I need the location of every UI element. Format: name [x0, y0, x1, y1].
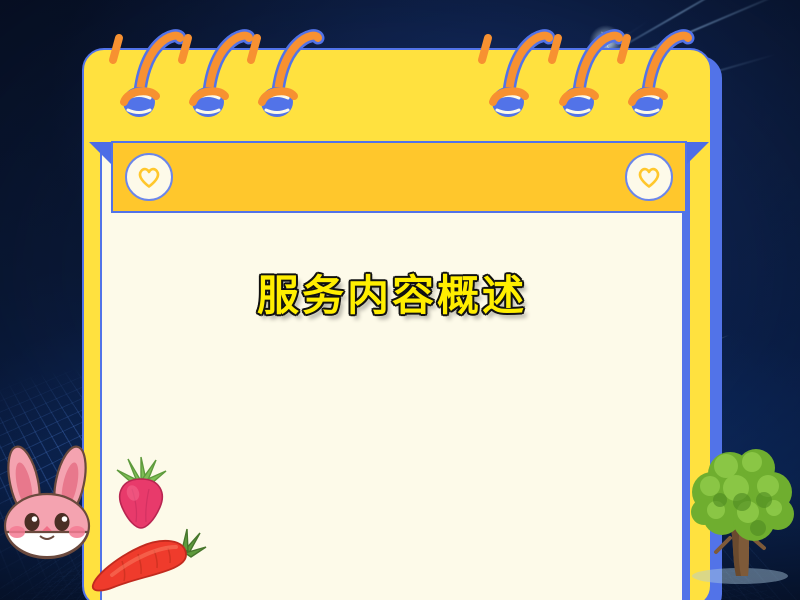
spiral-ring-icon: [113, 36, 180, 117]
radish-decoration-icon: [108, 455, 174, 531]
spiral-ring-icon: [552, 36, 619, 117]
banner-fold-left-icon: [89, 142, 111, 164]
page-title: 服务内容概述: [100, 262, 684, 323]
spiral-binding: [0, 0, 800, 140]
spiral-ring-icon: [621, 36, 688, 117]
title-banner: [84, 130, 714, 226]
carrot-decoration-icon: [88, 525, 208, 595]
banner-body: [111, 141, 687, 213]
heart-badge-left: [125, 153, 173, 201]
spiral-ring-icon: [182, 36, 249, 117]
slide-canvas: 服务内容概述: [0, 0, 800, 600]
heart-icon: [137, 166, 161, 188]
banner-fold-right-icon: [687, 142, 709, 164]
spiral-ring-icon: [482, 36, 549, 117]
heart-badge-right: [625, 153, 673, 201]
ring-group: [113, 36, 688, 117]
heart-icon: [637, 166, 661, 188]
tree-decoration-icon: [686, 440, 800, 590]
spiral-ring-icon: [251, 36, 318, 117]
